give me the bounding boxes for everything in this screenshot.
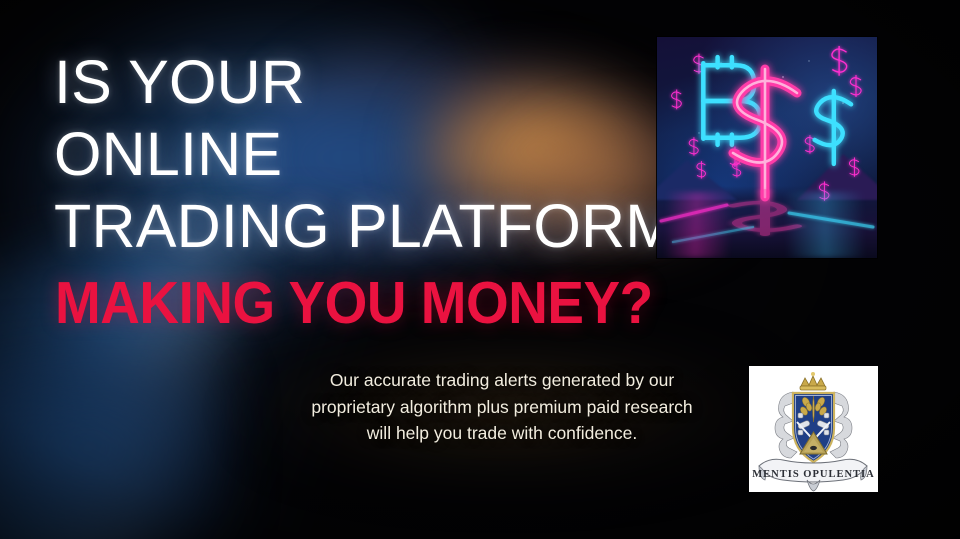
crest-banner: MENTIS OPULENTIA (752, 459, 874, 482)
crest-crown (800, 372, 826, 390)
crest-banner-text: MENTIS OPULENTIA (752, 469, 874, 480)
headline-block: IS YOUR ONLINE TRADING PLATFORM (54, 46, 694, 262)
neon-dollar-sign-artwork (657, 37, 877, 258)
body-paragraph: Our accurate trading alerts generated by… (282, 367, 722, 447)
background-glow-blue-lower (0, 360, 220, 539)
heraldic-crest-logo: MENTIS OPULENTIA (749, 366, 878, 492)
body-line-2: proprietary algorithm plus premium paid … (282, 394, 722, 421)
headline-highlight: MAKING YOU MONEY? (55, 272, 653, 334)
headline-line-2: ONLINE (54, 118, 694, 190)
dollar-sign-right (815, 91, 851, 164)
bitcoin-symbol (703, 57, 760, 145)
body-line-1: Our accurate trading alerts generated by… (282, 367, 722, 394)
neon-floor-reflection (657, 192, 877, 258)
headline-line-1: IS YOUR (54, 46, 694, 118)
promotional-poster: IS YOUR ONLINE TRADING PLATFORM MAKING Y… (0, 0, 960, 539)
crest-svg: MENTIS OPULENTIA (749, 366, 878, 492)
headline-line-3: TRADING PLATFORM (54, 190, 694, 262)
body-line-3: will help you trade with confidence. (282, 420, 722, 447)
